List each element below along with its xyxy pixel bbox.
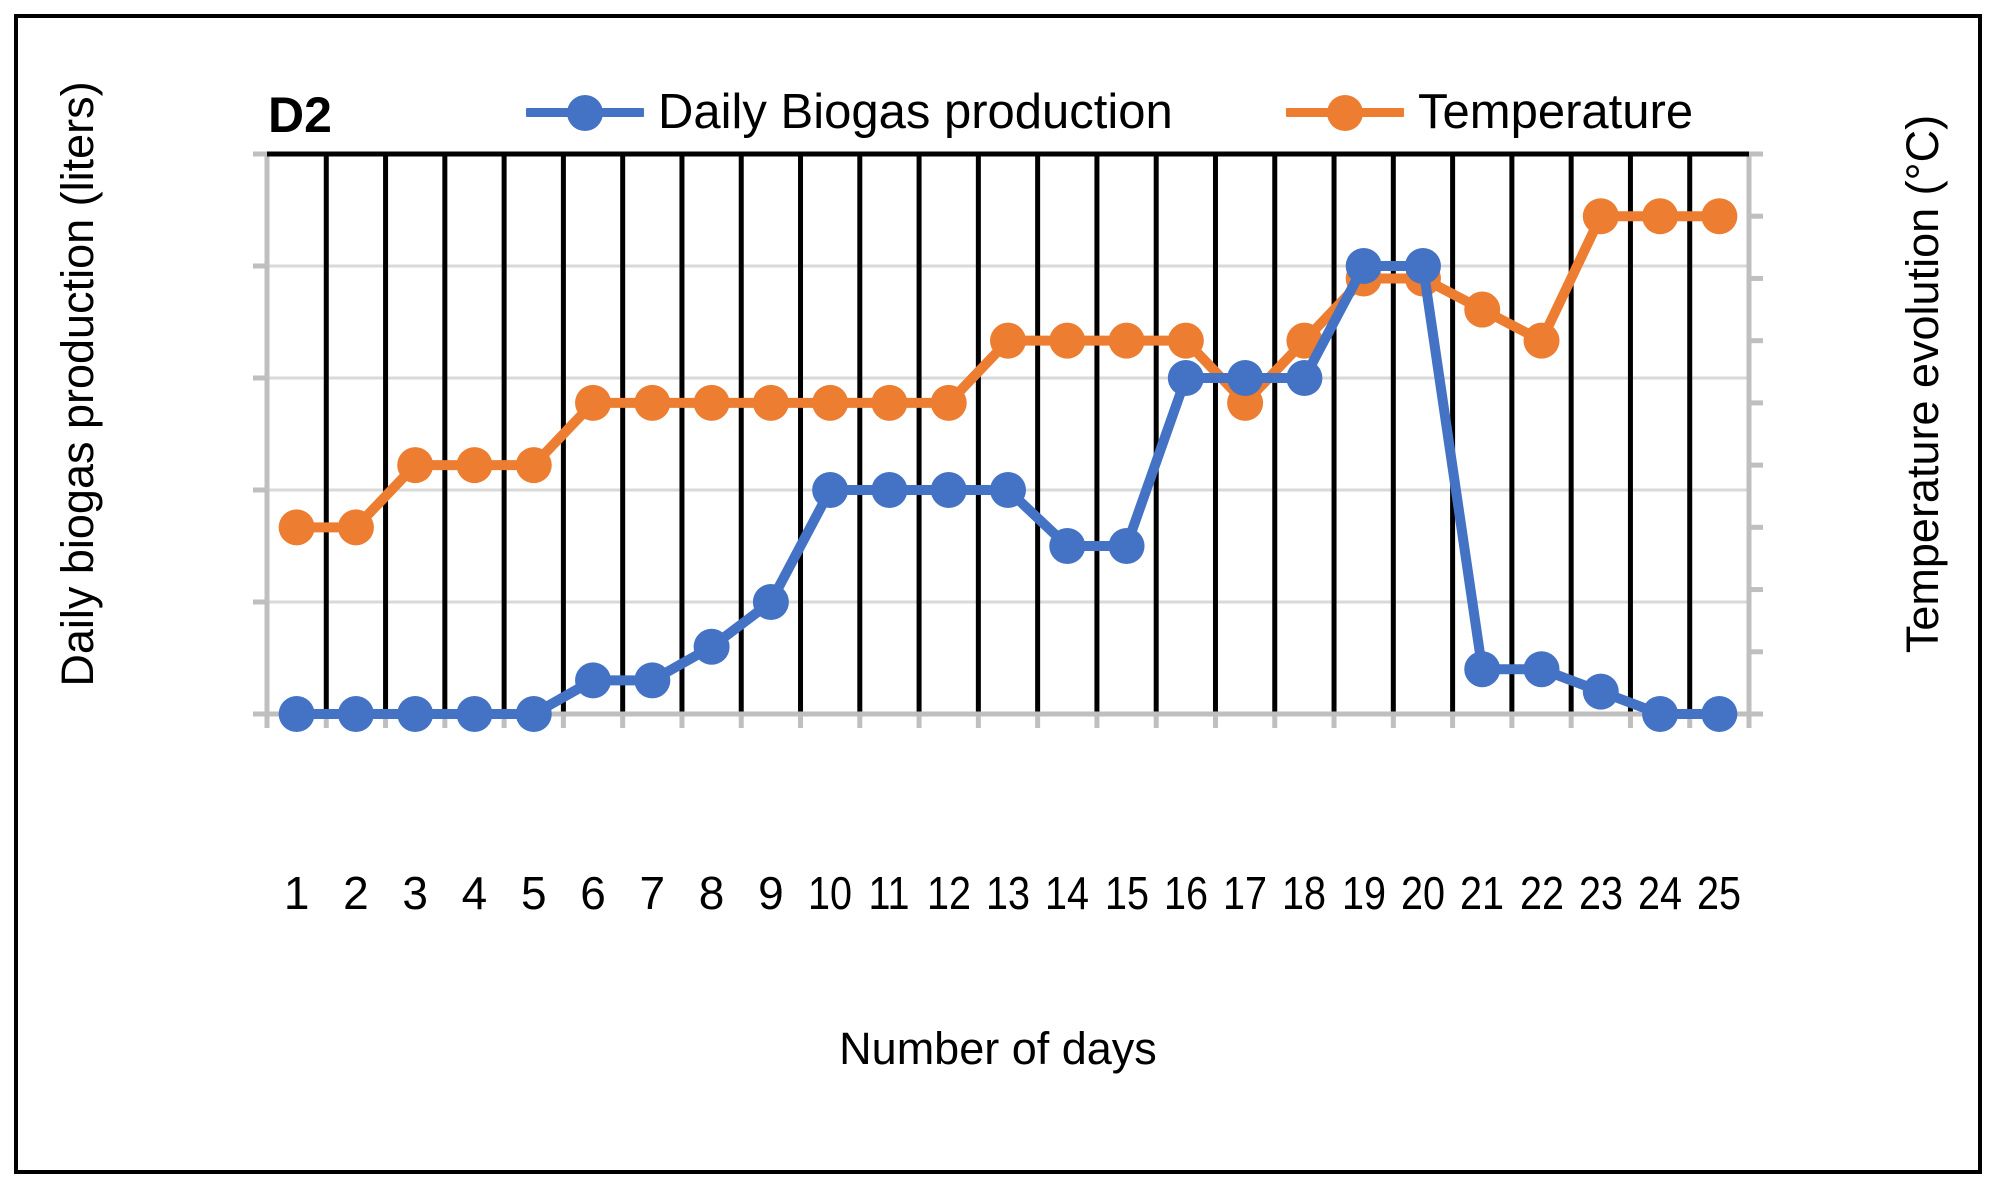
x-axis-tick-label: 8 — [699, 870, 725, 916]
legend-item-daily-biogas-production[interactable]: Daily Biogas production — [526, 84, 1173, 140]
x-axis-tick-label: 25 — [1697, 870, 1741, 916]
x-axis-tick-label: 3 — [402, 870, 428, 916]
horizontal-gridlines — [267, 154, 1749, 714]
x-axis-tick-label: 19 — [1342, 870, 1386, 916]
x-axis-tick-label: 23 — [1579, 870, 1623, 916]
x-axis-tick-label: 21 — [1460, 870, 1504, 916]
chart-legend: D2 Daily Biogas production Temperature — [18, 48, 1978, 138]
legend-label-temperature: Temperature — [1418, 88, 1693, 137]
x-axis-tick-label: 6 — [580, 870, 606, 916]
chart-frame: D2 Daily Biogas production Temperature D… — [14, 14, 1982, 1174]
x-axis-tick-label: 24 — [1638, 870, 1682, 916]
x-axis-tick-label: 9 — [758, 870, 784, 916]
x-axis-tick-label: 12 — [927, 870, 971, 916]
panel-title: D2 — [268, 86, 332, 144]
y-axis-left-title: Daily biogas production (liters) — [52, 4, 104, 764]
x-axis-title: Number of days — [18, 1023, 1978, 1075]
vertical-gridlines — [326, 154, 1689, 714]
x-axis-tick-label: 20 — [1401, 870, 1445, 916]
x-axis-tick-label: 13 — [986, 870, 1030, 916]
x-axis-tick-label: 22 — [1520, 870, 1564, 916]
x-axis-tick-label: 14 — [1045, 870, 1089, 916]
x-axis-tick-label: 4 — [462, 870, 488, 916]
x-axis-tick-label: 16 — [1164, 870, 1208, 916]
y-axis-right-title: Temperature evolution (°C) — [1897, 4, 1949, 764]
x-axis-tick-label: 2 — [343, 870, 369, 916]
plot-area: 2.521.510.50 31302928272625242322 123456… — [267, 154, 1749, 714]
x-axis-tick-label: 17 — [1223, 870, 1267, 916]
chart-canvas — [267, 154, 1749, 714]
x-axis-tick-label: 11 — [869, 870, 910, 916]
x-axis-tick-label: 1 — [284, 870, 310, 916]
x-axis-tick-label: 10 — [808, 870, 852, 916]
x-axis-tick-label: 15 — [1105, 870, 1149, 916]
legend-label-daily-biogas-production: Daily Biogas production — [658, 88, 1173, 137]
line-marker-icon — [526, 95, 644, 129]
x-axis-tick-label: 5 — [521, 870, 547, 916]
x-axis-tick-label: 7 — [640, 870, 666, 916]
axis-lines — [267, 154, 1749, 714]
legend-item-temperature[interactable]: Temperature — [1286, 84, 1693, 140]
x-axis-tick-label: 18 — [1282, 870, 1326, 916]
line-marker-icon — [1286, 95, 1404, 129]
